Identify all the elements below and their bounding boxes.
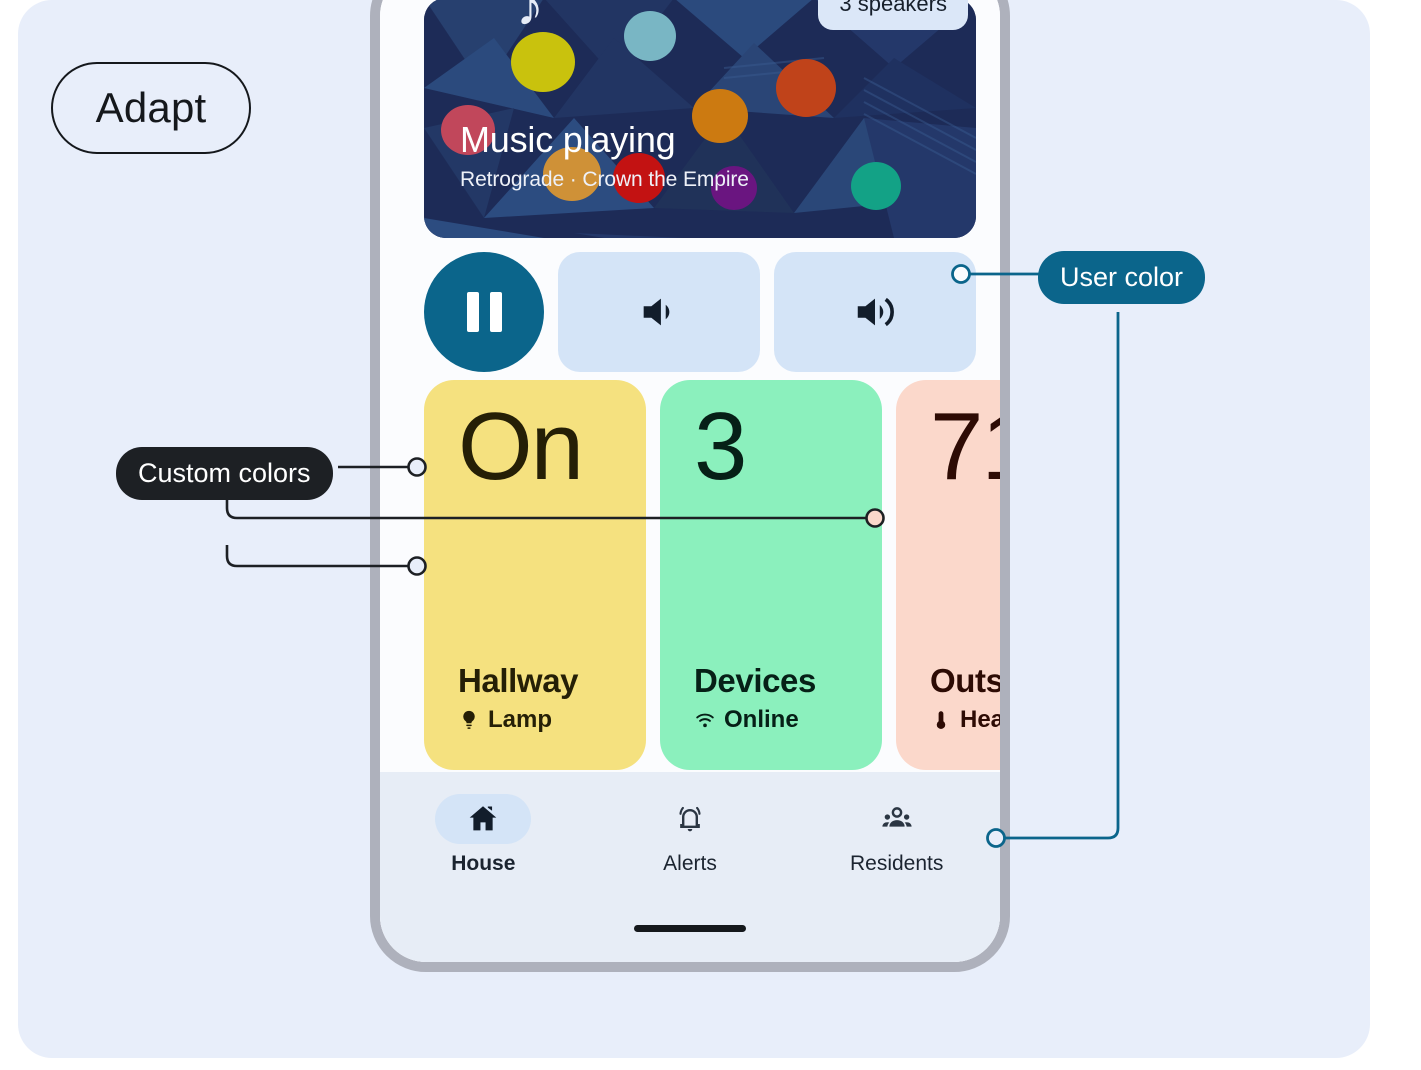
pause-button[interactable] (424, 252, 544, 372)
tile-hallway[interactable]: On Hallway Lamp (424, 380, 646, 770)
now-playing-subtitle: Retrograde · Crown the Empire (460, 168, 749, 192)
nav-label-residents: Residents (850, 852, 943, 876)
tile-footer: Devices Online (694, 662, 874, 734)
volume-down-button[interactable] (558, 252, 760, 372)
speakers-badge[interactable]: 3 speakers (818, 0, 968, 30)
user-color-label-text: User color (1060, 262, 1183, 293)
tile-name: Hallway (458, 662, 638, 700)
tile-value: 3 (694, 394, 745, 500)
now-playing-text: Music playing Retrograde · Crown the Emp… (460, 121, 749, 192)
nav-label-house: House (451, 852, 515, 876)
nav-pill-house[interactable] (435, 794, 531, 844)
custom-colors-label-text: Custom colors (138, 458, 311, 489)
tile-status-label: Online (724, 706, 799, 734)
adapt-label-text: Adapt (96, 84, 207, 132)
screenshot-root: Adapt (0, 0, 1421, 1070)
nav-label-alerts: Alerts (663, 852, 717, 876)
tile-status-label: Lamp (488, 706, 552, 734)
tile-outside[interactable]: 71 Outside Heating (896, 380, 1000, 770)
tile-name: Devices (694, 662, 874, 700)
tile-value: 71 (930, 394, 1000, 500)
people-icon (880, 802, 914, 836)
home-indicator (634, 925, 746, 932)
adapt-label-pill: Adapt (51, 62, 251, 154)
home-icon (466, 802, 500, 836)
transport-controls (424, 252, 976, 372)
tile-footer: Outside Heating (930, 662, 1000, 734)
nav-item-residents[interactable]: Residents (793, 794, 1000, 962)
volume-up-icon (852, 289, 898, 335)
phone-screen: ♪ Music playing Retrograde · Crown the E… (380, 0, 1000, 962)
nav-pill-residents[interactable] (849, 794, 945, 844)
nav-item-alerts[interactable]: Alerts (587, 794, 794, 962)
tile-name: Outside (930, 662, 1000, 700)
phone-frame: ♪ Music playing Retrograde · Crown the E… (370, 0, 1010, 972)
tile-status: Online (694, 706, 874, 734)
tile-status: Heating (930, 706, 1000, 734)
tile-status: Lamp (458, 706, 638, 734)
tile-status-label: Heating (960, 706, 1000, 734)
nav-pill-alerts[interactable] (642, 794, 738, 844)
now-playing-title: Music playing (460, 121, 749, 159)
volume-down-icon (636, 289, 682, 335)
tile-value: On (458, 394, 582, 500)
bottom-navigation: House Alerts (380, 772, 1000, 962)
volume-up-button[interactable] (774, 252, 976, 372)
bell-icon (673, 802, 707, 836)
tile-footer: Hallway Lamp (458, 662, 638, 734)
music-note-icon: ♪ (516, 0, 544, 34)
status-tiles: On Hallway Lamp (424, 380, 1000, 770)
wifi-icon (694, 709, 716, 731)
lightbulb-icon (458, 709, 480, 731)
now-playing-artwork[interactable]: ♪ Music playing Retrograde · Crown the E… (424, 0, 976, 238)
user-color-label: User color (1038, 251, 1205, 304)
thermometer-icon (930, 709, 952, 731)
custom-colors-label: Custom colors (116, 447, 333, 500)
nav-item-house[interactable]: House (380, 794, 587, 962)
pause-icon (467, 292, 502, 332)
tile-devices[interactable]: 3 Devices Online (660, 380, 882, 770)
